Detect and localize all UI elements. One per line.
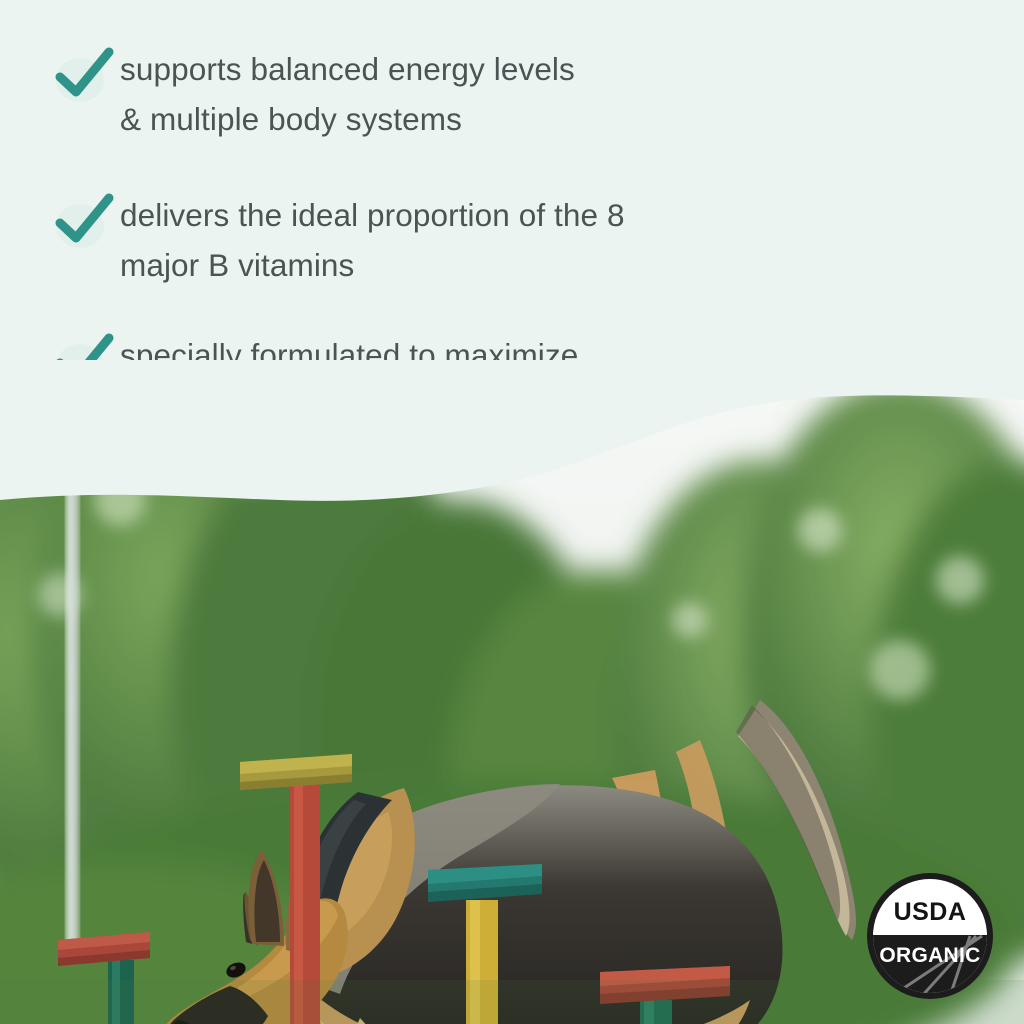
check-blob	[56, 204, 104, 248]
check-glyph	[52, 44, 116, 102]
check-icon	[48, 42, 120, 106]
usda-organic-seal: USDA ORGANIC	[866, 872, 994, 1000]
benefit-text-2: delivers the ideal proportion of the 8 m…	[120, 188, 625, 290]
badge-line-2: ORGANIC	[879, 944, 980, 967]
background-pole	[66, 440, 79, 960]
benefit-item-2: delivers the ideal proportion of the 8 m…	[48, 188, 625, 290]
check-glyph	[52, 190, 116, 248]
benefits-panel: supports balanced energy levels & multip…	[0, 0, 1024, 400]
check-blob	[56, 58, 104, 102]
check-icon	[48, 188, 120, 252]
badge-line-1: USDA	[894, 898, 967, 926]
creative-canvas: supports balanced energy levels & multip…	[0, 0, 1024, 1024]
benefit-text-1: supports balanced energy levels & multip…	[120, 42, 575, 144]
benefit-item-1: supports balanced energy levels & multip…	[48, 42, 575, 144]
